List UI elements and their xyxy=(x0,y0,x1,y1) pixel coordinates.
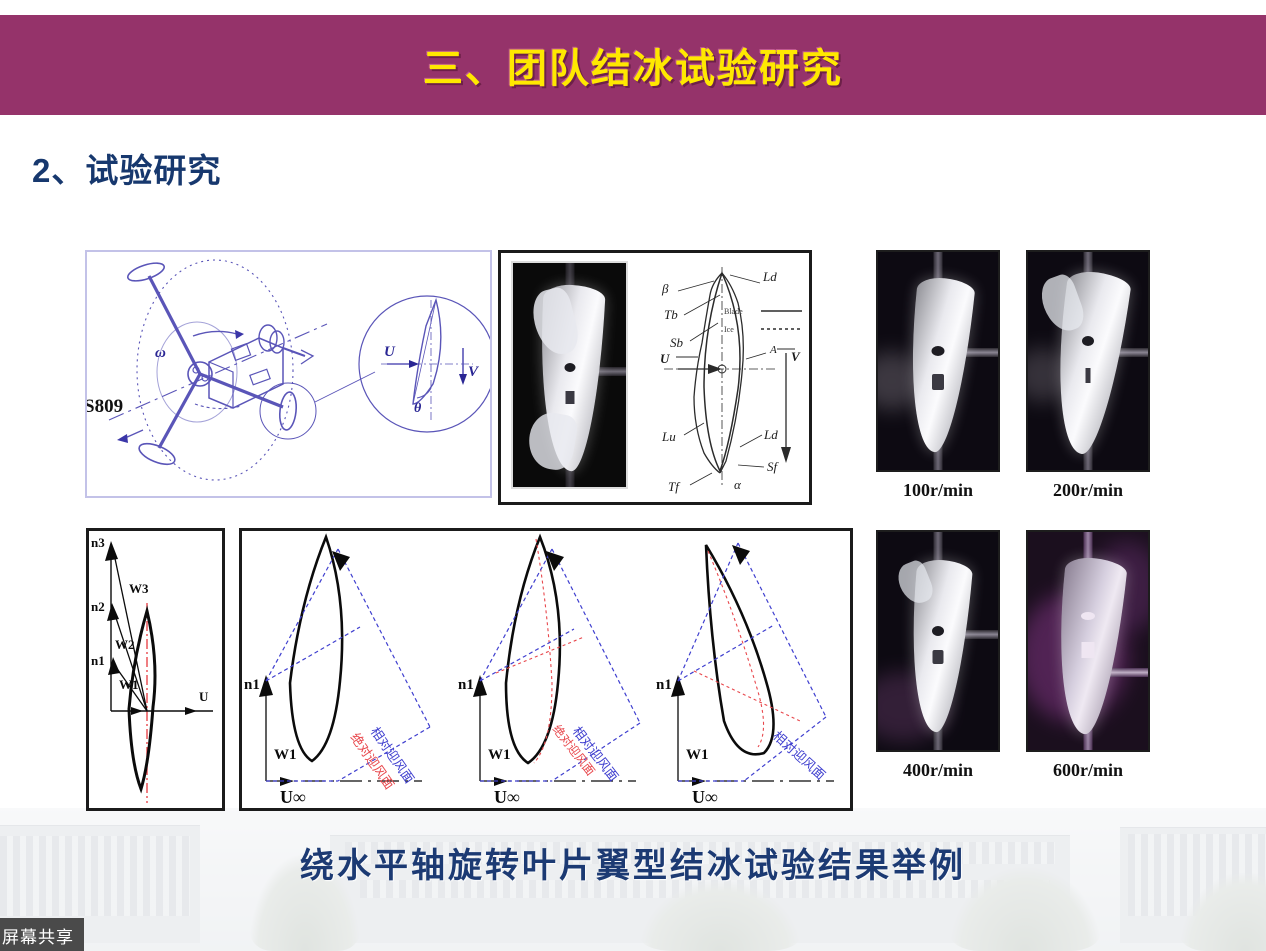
photo-cell-100rmin: 100r/min xyxy=(876,250,1000,501)
label-n1-fig2: n1 xyxy=(458,677,474,693)
label-w1-fig3: W1 xyxy=(686,747,709,763)
label-lu: Lu xyxy=(661,429,676,444)
label-a: A xyxy=(769,344,777,356)
photo-600rmin xyxy=(1026,530,1150,752)
photo-caption-100rmin: 100r/min xyxy=(876,480,1000,501)
legend-ice-label: Ice xyxy=(724,325,734,334)
label-omega: ω xyxy=(155,345,166,361)
windward-figure-3: n1 W1 U∞ 相对迎风面 xyxy=(656,543,834,807)
screen-share-badge: 电的屏幕共享 xyxy=(0,918,84,951)
background-tree xyxy=(640,881,800,951)
label-sf: Sf xyxy=(767,459,780,474)
label-w1-fig2: W1 xyxy=(488,747,511,763)
slide-root: 三、团队结冰试验研究 2、试验研究 xyxy=(0,0,1266,951)
windward-figure-2: n1 W1 U∞ 绝对迎风面 相对迎风面 xyxy=(458,537,640,807)
label-tf: Tf xyxy=(668,479,681,494)
label-w1: W1 xyxy=(119,677,139,692)
windward-figure-1: n1 W1 U∞ 绝对迎风面 相对迎风面 xyxy=(244,537,430,807)
photo-200rmin xyxy=(1026,250,1150,472)
label-relative-windward-fig3: 相对迎风面 xyxy=(770,728,828,783)
iced-airfoil-photo xyxy=(511,261,628,489)
legend-blade-label: Blade xyxy=(724,307,743,316)
main-caption: 绕水平轴旋转叶片翼型结冰试验结果举例 xyxy=(0,838,1266,887)
rotor-sketch-panel: ω U V θ S809 xyxy=(85,250,492,498)
airfoil-schematic-panel: β Ld Tb Sb A U V Lu Ld Sf Tf α Blade Ice xyxy=(498,250,812,505)
label-ld-top: Ld xyxy=(762,269,777,284)
label-uinf-fig3: U∞ xyxy=(692,787,718,807)
photo-caption-400rmin: 400r/min xyxy=(876,760,1000,781)
photo-caption-600rmin: 600r/min xyxy=(1026,760,1150,781)
velocity-triangle-svg: n3 n2 n1 W3 W2 W1 U xyxy=(89,531,222,808)
label-w2: W2 xyxy=(115,637,135,652)
airfoil-ice-schematic-svg: β Ld Tb Sb A U V Lu Ld Sf Tf α Blade Ice xyxy=(634,257,806,497)
label-u: U xyxy=(199,689,209,704)
label-n1-fig1: n1 xyxy=(244,677,260,693)
label-n1: n1 xyxy=(91,653,105,668)
windward-attitudes-panel: n1 W1 U∞ 绝对迎风面 相对迎风面 xyxy=(239,528,853,811)
label-v: V xyxy=(791,349,801,364)
label-theta: θ xyxy=(414,401,422,416)
label-n2: n2 xyxy=(91,599,105,614)
label-w3: W3 xyxy=(129,581,149,596)
windward-attitudes-svg: n1 W1 U∞ 绝对迎风面 相对迎风面 xyxy=(242,531,850,808)
label-n3: n3 xyxy=(91,535,105,550)
label-uinf-fig1: U∞ xyxy=(280,787,306,807)
photo-400rmin xyxy=(876,530,1000,752)
section-subtitle: 2、试验研究 xyxy=(32,144,221,192)
label-alpha: α xyxy=(734,477,742,492)
banner-title: 三、团队结冰试验研究 xyxy=(423,36,843,94)
label-w1-fig1: W1 xyxy=(274,747,297,763)
velocity-triangle-panel: n3 n2 n1 W3 W2 W1 U xyxy=(86,528,225,811)
label-v: V xyxy=(468,364,480,380)
rotor-sketch-svg: ω U V θ S809 xyxy=(87,252,490,496)
label-beta: β xyxy=(661,281,669,296)
label-ld-bottom: Ld xyxy=(763,427,778,442)
label-u: U xyxy=(384,344,396,360)
photo-cell-600rmin: 600r/min xyxy=(1026,530,1150,781)
label-airfoil-name: S809 xyxy=(87,396,123,417)
label-tb: Tb xyxy=(664,307,678,322)
header-banner: 三、团队结冰试验研究 xyxy=(0,15,1266,115)
label-u: U xyxy=(660,351,670,366)
photo-cell-400rmin: 400r/min xyxy=(876,530,1000,781)
label-sb: Sb xyxy=(670,335,684,350)
photo-caption-200rmin: 200r/min xyxy=(1026,480,1150,501)
label-uinf-fig2: U∞ xyxy=(494,787,520,807)
photo-cell-200rmin: 200r/min xyxy=(1026,250,1150,501)
photo-100rmin xyxy=(876,250,1000,472)
label-n1-fig3: n1 xyxy=(656,677,672,693)
